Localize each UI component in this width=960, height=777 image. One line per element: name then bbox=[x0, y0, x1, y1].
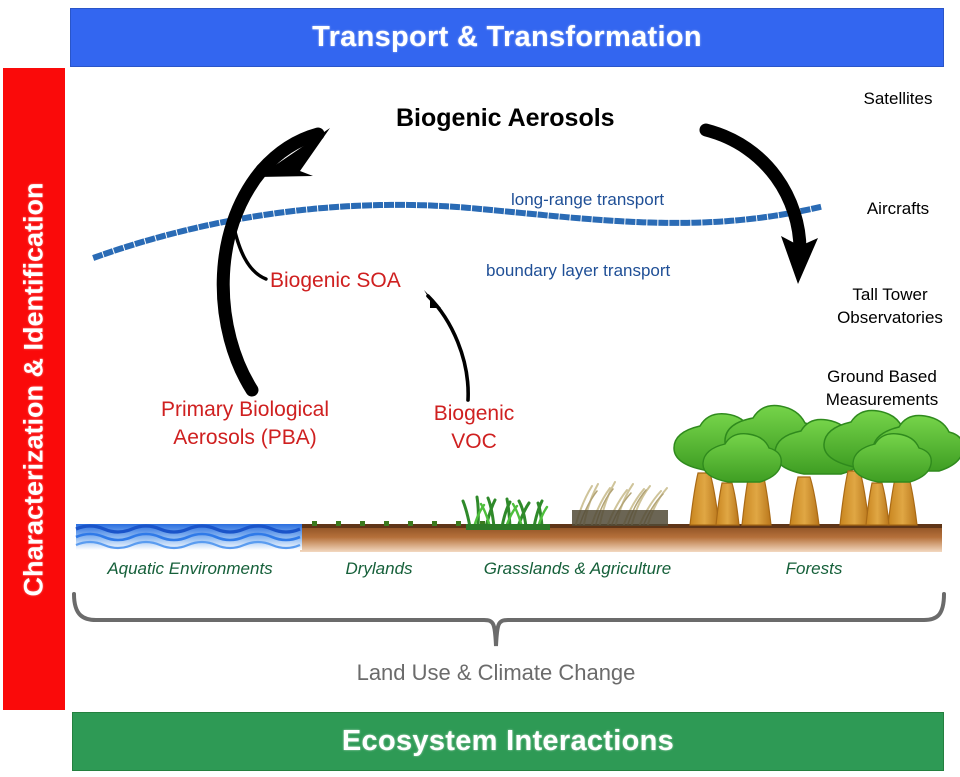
tree bbox=[824, 410, 917, 525]
tree bbox=[873, 415, 960, 525]
label-biogenic-soa: Biogenic SOA bbox=[270, 267, 401, 295]
label-aircrafts: Aircrafts bbox=[846, 198, 950, 221]
label-forests: Forests bbox=[700, 559, 928, 579]
tree bbox=[853, 434, 931, 525]
land-use-brace bbox=[74, 594, 944, 646]
voc-line-2: VOC bbox=[420, 428, 528, 456]
grass-patch bbox=[463, 497, 550, 530]
soil-strip bbox=[300, 521, 942, 552]
label-land-use-climate-change: Land Use & Climate Change bbox=[250, 660, 742, 686]
top-banner-label: Transport & Transformation bbox=[312, 21, 702, 54]
forest bbox=[674, 406, 960, 526]
voc-line-1: Biogenic bbox=[420, 400, 528, 428]
transport-dotted-line bbox=[96, 205, 820, 257]
label-primary-biological-aerosols: Primary Biological Aerosols (PBA) bbox=[140, 396, 350, 453]
voc-to-soa-arrow bbox=[424, 290, 468, 400]
tower-line-2: Observatories bbox=[830, 307, 950, 330]
label-biogenic-voc: Biogenic VOC bbox=[420, 400, 528, 457]
label-grasslands-agriculture: Grasslands & Agriculture bbox=[455, 559, 700, 579]
tree bbox=[674, 414, 764, 525]
label-aquatic-environments: Aquatic Environments bbox=[76, 559, 304, 579]
sidebar-label: Characterization & Identification bbox=[19, 182, 50, 596]
tree bbox=[725, 406, 820, 526]
emission-arrow bbox=[223, 128, 330, 390]
ground-line-2: Measurements bbox=[812, 389, 952, 412]
label-drylands: Drylands bbox=[300, 559, 458, 579]
deposition-arrow bbox=[706, 130, 818, 284]
crop-patch bbox=[572, 482, 668, 526]
characterization-identification-sidebar: Characterization & Identification bbox=[3, 68, 65, 710]
diagram-canvas: Transport & Transformation Characterizat… bbox=[0, 0, 960, 777]
label-boundary-layer-transport: boundary layer transport bbox=[486, 261, 670, 281]
label-ground-based-measurements: Ground Based Measurements bbox=[812, 366, 952, 412]
water-strip bbox=[76, 524, 302, 550]
ecosystem-interactions-banner: Ecosystem Interactions bbox=[72, 712, 944, 771]
tower-line-1: Tall Tower bbox=[830, 284, 950, 307]
pba-line-2: Aerosols (PBA) bbox=[140, 424, 350, 452]
soa-leader-line bbox=[232, 218, 266, 279]
label-satellites: Satellites bbox=[846, 88, 950, 111]
page-title: Biogenic Aerosols bbox=[396, 104, 615, 133]
bottom-banner-label: Ecosystem Interactions bbox=[342, 725, 674, 758]
ground-line-1: Ground Based bbox=[812, 366, 952, 389]
transport-transformation-banner: Transport & Transformation bbox=[70, 8, 944, 67]
pba-line-1: Primary Biological bbox=[140, 396, 350, 424]
label-tall-tower-observatories: Tall Tower Observatories bbox=[830, 284, 950, 330]
tree bbox=[775, 419, 865, 525]
tree bbox=[703, 434, 781, 525]
label-long-range-transport: long-range transport bbox=[511, 190, 664, 210]
